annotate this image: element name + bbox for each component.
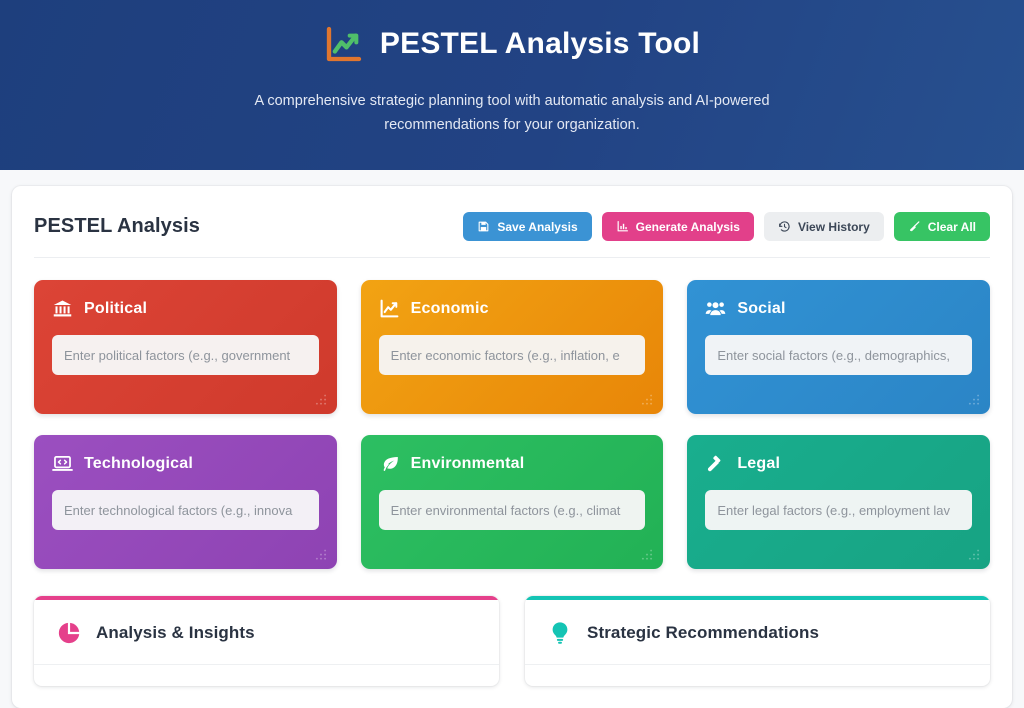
clear-all-button[interactable]: Clear All — [894, 212, 990, 241]
bank-columns-icon — [52, 298, 73, 319]
card-title: Environmental — [411, 455, 525, 473]
card-title: Political — [84, 300, 147, 318]
view-history-label: View History — [798, 221, 870, 233]
brand-row: PESTEL Analysis Tool — [324, 24, 700, 64]
card-title: Technological — [84, 455, 193, 473]
pie-chart-icon — [56, 620, 82, 646]
card-header: Social — [705, 298, 972, 319]
environmental-factors-input[interactable] — [379, 490, 646, 530]
pestel-card-environmental: Environmental — [361, 435, 664, 569]
card-header: Legal — [705, 453, 972, 474]
save-analysis-label: Save Analysis — [497, 221, 577, 233]
line-chart-icon — [379, 298, 400, 319]
broom-icon — [908, 220, 921, 233]
bar-chart-icon — [616, 220, 629, 233]
clear-all-label: Clear All — [928, 221, 976, 233]
card-title: Strategic Recommendations — [587, 623, 819, 643]
card-header: Analysis & Insights — [34, 600, 499, 665]
card-title: Analysis & Insights — [96, 623, 255, 643]
page-body: PESTEL Analysis Save Analysis — [0, 170, 1024, 708]
pestel-grid: Political — [34, 280, 990, 569]
app-subtitle: A comprehensive strategic planning tool … — [202, 90, 822, 138]
results-row: Analysis & Insights Strategic Recommenda… — [34, 596, 990, 686]
card-header: Strategic Recommendations — [525, 600, 990, 665]
save-analysis-button[interactable]: Save Analysis — [463, 212, 591, 241]
card-header: Political — [52, 298, 319, 319]
laptop-code-icon — [52, 453, 73, 474]
card-title: Economic — [411, 300, 489, 318]
card-header: Technological — [52, 453, 319, 474]
technological-factors-input[interactable] — [52, 490, 319, 530]
lightbulb-icon — [547, 620, 573, 646]
resize-handle-icon[interactable] — [967, 392, 981, 406]
pestel-card-legal: Legal — [687, 435, 990, 569]
users-group-icon — [705, 298, 726, 319]
page-title: PESTEL Analysis — [34, 215, 200, 238]
app-title: PESTEL Analysis Tool — [380, 27, 700, 61]
clock-rotate-icon — [778, 220, 791, 233]
resize-handle-icon[interactable] — [640, 392, 654, 406]
app-header: PESTEL Analysis Tool A comprehensive str… — [0, 0, 1024, 170]
political-factors-input[interactable] — [52, 335, 319, 375]
floppy-disk-icon — [477, 220, 490, 233]
pestel-card-economic: Economic — [361, 280, 664, 414]
generate-analysis-button[interactable]: Generate Analysis — [602, 212, 754, 241]
analysis-insights-card: Analysis & Insights — [34, 596, 499, 686]
toolbar: Save Analysis Generate Analysis — [463, 212, 990, 241]
economic-factors-input[interactable] — [379, 335, 646, 375]
card-title: Social — [737, 300, 785, 318]
pestel-card-social: Social — [687, 280, 990, 414]
view-history-button[interactable]: View History — [764, 212, 884, 241]
resize-handle-icon[interactable] — [314, 547, 328, 561]
pestel-card-political: Political — [34, 280, 337, 414]
social-factors-input[interactable] — [705, 335, 972, 375]
gavel-icon — [705, 453, 726, 474]
leaf-icon — [379, 453, 400, 474]
generate-analysis-label: Generate Analysis — [636, 221, 740, 233]
chart-line-up-icon — [324, 24, 364, 64]
resize-handle-icon[interactable] — [640, 547, 654, 561]
panel-header: PESTEL Analysis Save Analysis — [34, 212, 990, 258]
card-title: Legal — [737, 455, 780, 473]
resize-handle-icon[interactable] — [967, 547, 981, 561]
strategic-recommendations-card: Strategic Recommendations — [525, 596, 990, 686]
card-header: Economic — [379, 298, 646, 319]
legal-factors-input[interactable] — [705, 490, 972, 530]
card-header: Environmental — [379, 453, 646, 474]
resize-handle-icon[interactable] — [314, 392, 328, 406]
pestel-card-technological: Technological — [34, 435, 337, 569]
pestel-panel: PESTEL Analysis Save Analysis — [12, 186, 1012, 708]
